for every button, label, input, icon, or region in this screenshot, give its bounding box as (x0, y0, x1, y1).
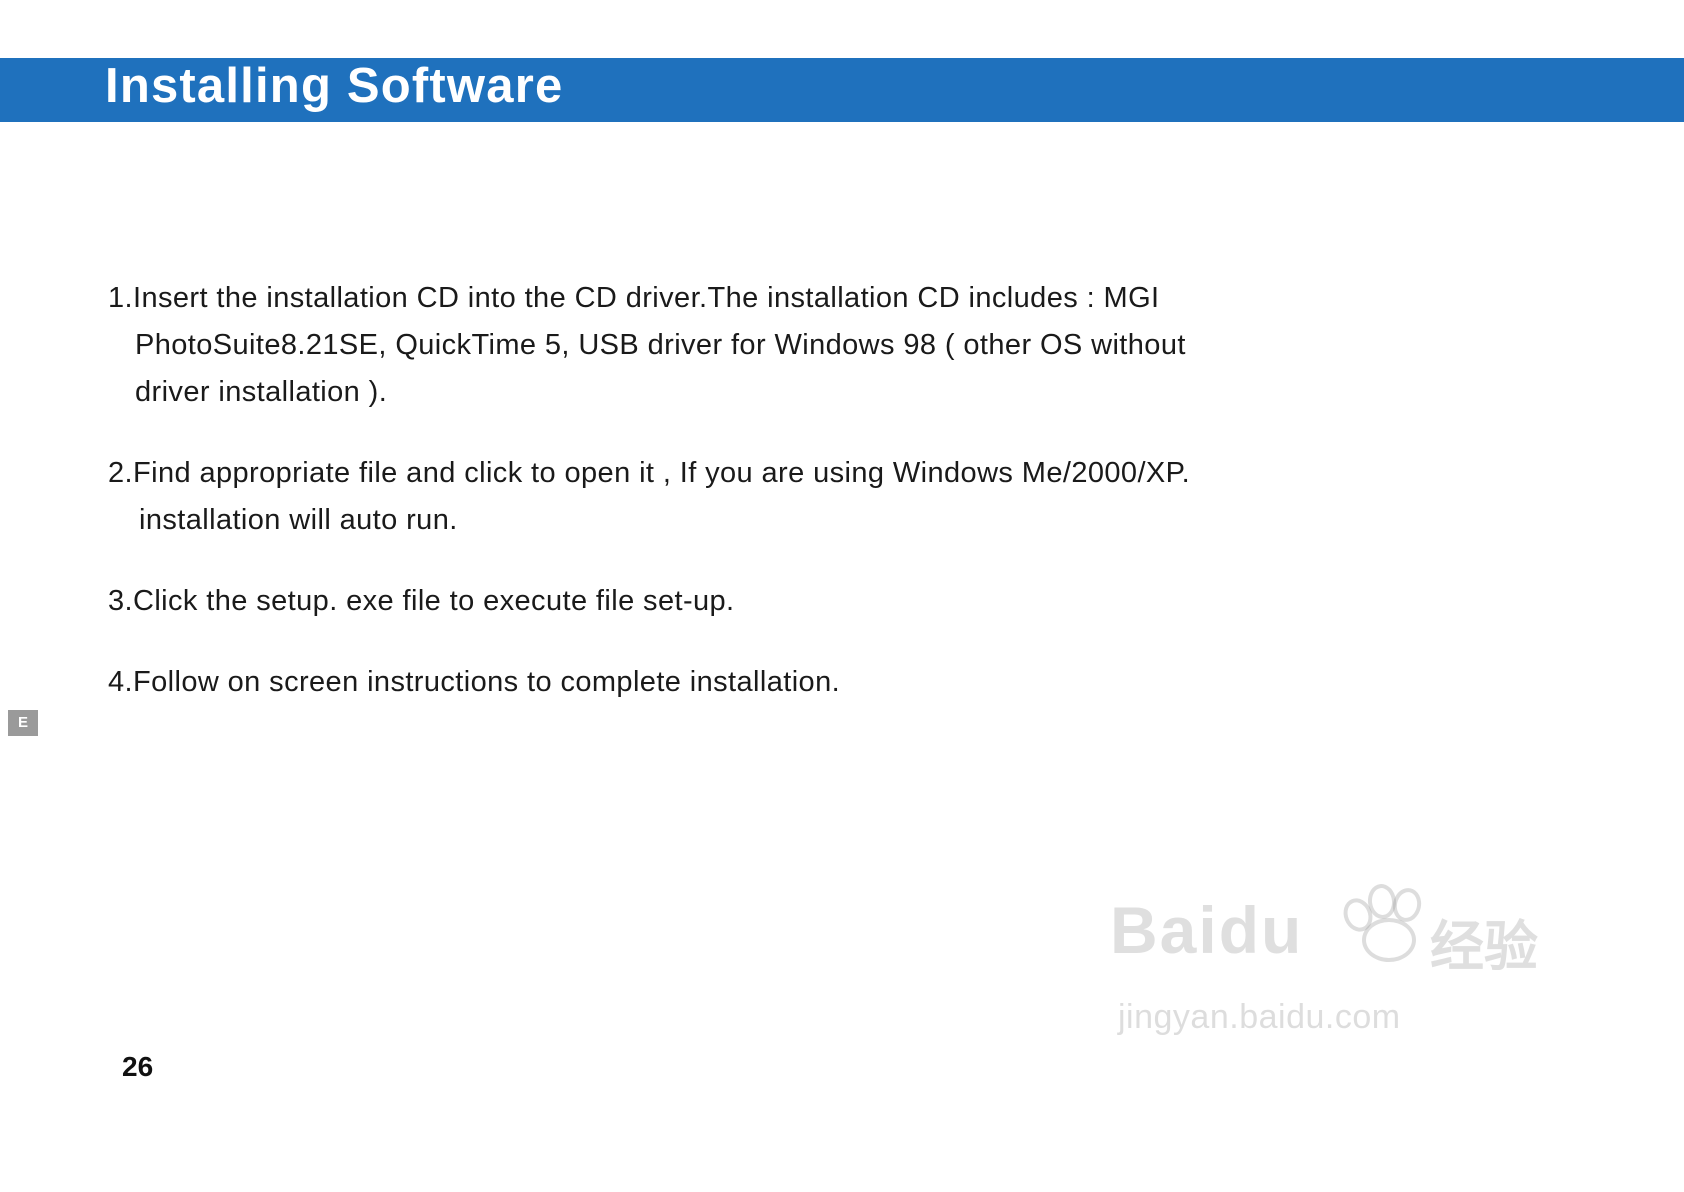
list-item: 2. Find appropriate file and click to op… (108, 450, 1508, 544)
step-number: 2. (108, 450, 133, 497)
page-title: Installing Software (105, 54, 563, 118)
step-line: installation will auto run. (139, 497, 1508, 544)
step-line: driver installation ). (135, 369, 1508, 416)
step-line: Follow on screen instructions to complet… (133, 659, 1508, 706)
watermark-brand-text: Baidu (1110, 892, 1510, 968)
step-text: Follow on screen instructions to complet… (133, 659, 1508, 706)
step-line: Click the setup. exe file to execute fil… (133, 578, 1508, 625)
step-text: Insert the installation CD into the CD d… (133, 275, 1508, 416)
instructions-list: 1. Insert the installation CD into the C… (108, 275, 1508, 740)
step-number: 1. (108, 275, 133, 322)
list-item: 4. Follow on screen instructions to comp… (108, 659, 1508, 706)
step-number: 4. (108, 659, 133, 706)
list-item: 1. Insert the installation CD into the C… (108, 275, 1508, 416)
page-number: 26 (122, 1051, 153, 1083)
watermark-url-text: jingyan.baidu.com (1118, 998, 1401, 1037)
step-line: PhotoSuite8.21SE, QuickTime 5, USB drive… (135, 322, 1508, 369)
step-text: Click the setup. exe file to execute fil… (133, 578, 1508, 625)
page-header-banner: Installing Software (0, 58, 1684, 122)
watermark: Baidu 经验 jingyan.baidu.com (1100, 880, 1520, 1060)
step-line: Insert the installation CD into the CD d… (133, 275, 1508, 322)
step-line: Find appropriate file and click to open … (133, 450, 1508, 497)
step-text: Find appropriate file and click to open … (133, 450, 1508, 544)
paw-print-icon (1338, 880, 1428, 960)
list-item: 3. Click the setup. exe file to execute … (108, 578, 1508, 625)
watermark-brand-cn-text: 经验 (1430, 902, 1538, 981)
step-number: 3. (108, 578, 133, 625)
language-tab-marker: E (8, 710, 38, 736)
